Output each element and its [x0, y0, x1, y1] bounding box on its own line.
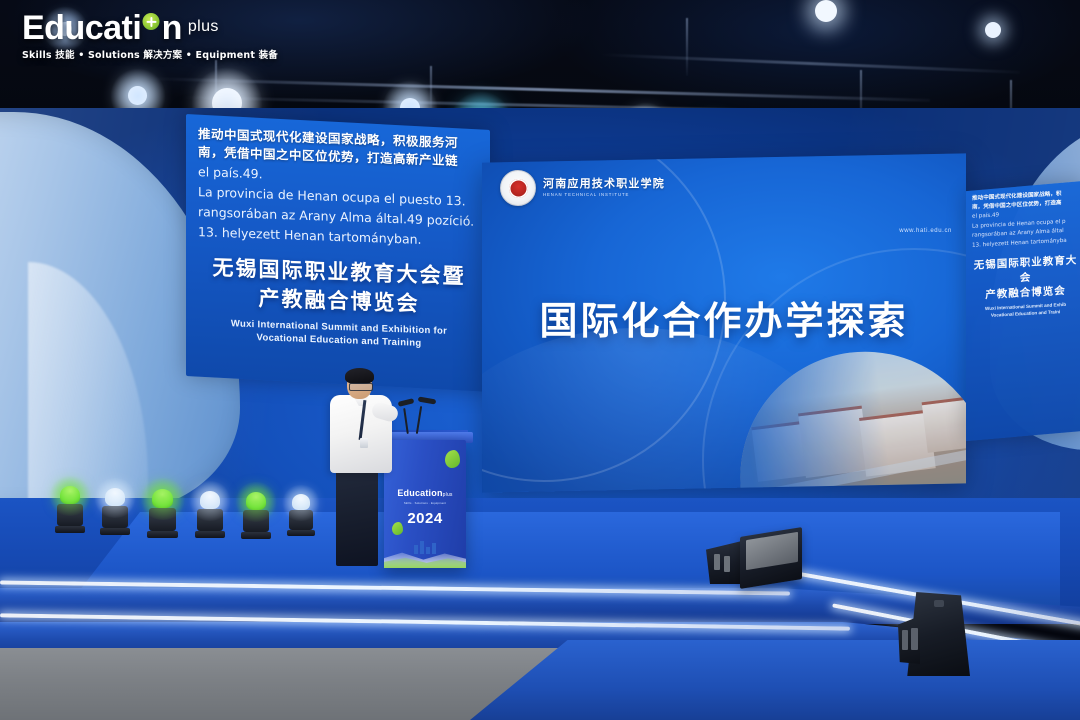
- floor-pa-speaker: [898, 592, 980, 678]
- emblem-core: [509, 179, 528, 198]
- moving-head-light: [152, 489, 178, 538]
- podium-tagline: Skills · Solutions · Equipment: [384, 501, 466, 506]
- led-panel-right: 推动中国式现代化建设国家战略，积 南，凭借中国之中区位优势，打造高 el paí…: [966, 181, 1080, 441]
- moving-head-light: [200, 491, 225, 538]
- watermark-brand-tail: n: [162, 9, 182, 47]
- podium: Educationplus Skills · Solutions · Equip…: [384, 440, 466, 568]
- moving-head-light: [105, 488, 130, 535]
- main-led-screen: 河南应用技术职业学院 HENAN TECHNICAL INSTITUTE www…: [482, 153, 966, 492]
- watermark-brand: Education: [22, 10, 182, 46]
- stage-monitor-wedge: [706, 532, 802, 584]
- institution-name-block: 河南应用技术职业学院 HENAN TECHNICAL INSTITUTE: [543, 178, 665, 198]
- led-panel-left: 推动中国式现代化建设国家战略，积极服务河 南，凭借中国之中区位优势，打造高新产业…: [186, 114, 490, 392]
- podium-brand: Educationplus: [384, 488, 466, 501]
- venue-floor-carpet: [470, 640, 1080, 720]
- slide-headline: 国际化合作办学探索: [482, 290, 966, 345]
- institution-logo: 河南应用技术职业学院 HENAN TECHNICAL INSTITUTE: [500, 170, 665, 206]
- moving-head-light: [246, 492, 271, 539]
- watermark-logo: Education plus Skills 技能 • Solutions 解决方…: [22, 10, 278, 61]
- speaker-legs: [336, 466, 378, 566]
- podium-brand-suffix: plus: [443, 492, 453, 498]
- plus-dot-icon: [143, 13, 160, 30]
- podium-brand-name: Education: [397, 488, 442, 498]
- speaker-glasses: [349, 383, 373, 391]
- podium-leaf-decor: [445, 450, 460, 468]
- institution-url: www.hati.edu.cn: [899, 228, 952, 234]
- moving-head-light: [292, 494, 315, 536]
- watermark-brand-main: Educati: [22, 9, 141, 47]
- institution-emblem-icon: [500, 170, 536, 206]
- watermark-tagline: Skills 技能 • Solutions 解决方案 • Equipment 装…: [22, 47, 278, 61]
- institution-name-en: HENAN TECHNICAL INSTITUTE: [543, 191, 665, 198]
- moving-head-light: [60, 486, 85, 533]
- institution-name-zh: 河南应用技术职业学院: [543, 178, 665, 191]
- truss-spotlight: [128, 86, 147, 105]
- truss-vertical-support: [686, 18, 688, 76]
- podium-year: 2024: [384, 510, 466, 527]
- truss-spotlight: [985, 22, 1001, 38]
- speaker-hair: [345, 368, 374, 384]
- watermark-plus-dot-wrap: o: [141, 10, 161, 46]
- podium-branding: Educationplus Skills · Solutions · Equip…: [384, 488, 466, 527]
- podium-skyline-icon: [414, 540, 438, 554]
- truss-vertical-support: [430, 66, 432, 114]
- conference-stage-photo: 推动中国式现代化建设国家战略，积极服务河 南，凭借中国之中区位优势，打造高新产业…: [0, 0, 1080, 720]
- speaker-badge: [360, 438, 368, 448]
- truss-spotlight: [815, 0, 837, 22]
- watermark-suffix: plus: [188, 18, 219, 39]
